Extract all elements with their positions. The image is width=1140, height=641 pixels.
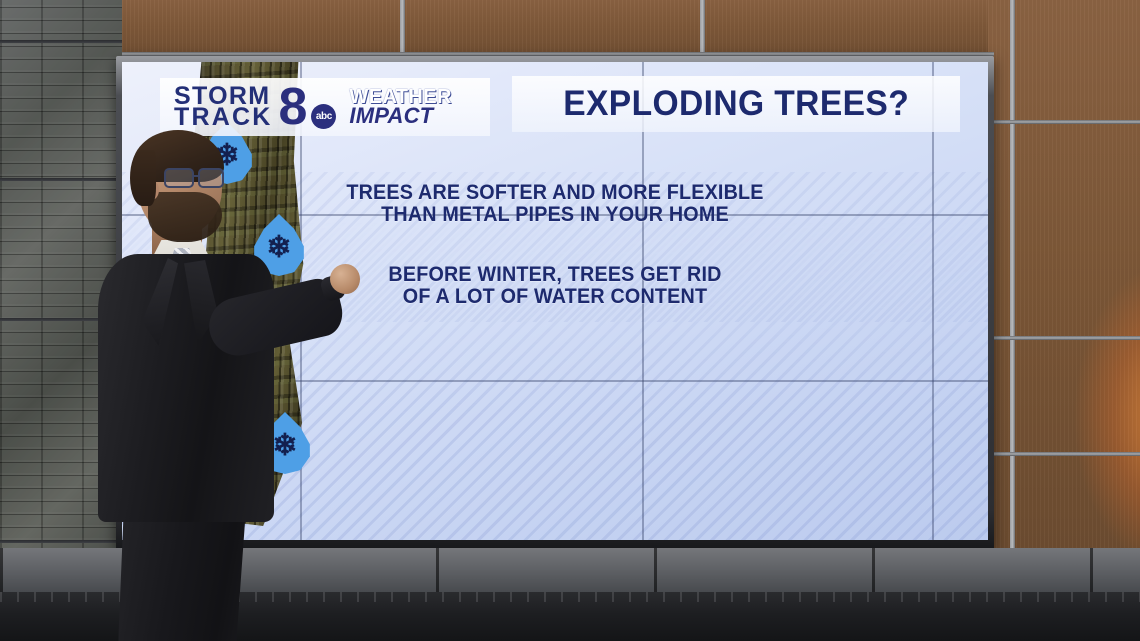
stone-wall-seam xyxy=(0,40,122,43)
meteorologist-presenter xyxy=(92,136,372,641)
channel-number: 8 xyxy=(279,87,308,129)
weather-impact-wordmark: WEATHER IMPACT xyxy=(349,88,451,127)
presenter-hair xyxy=(130,150,156,206)
presenter-legs xyxy=(116,508,246,641)
headline-banner: EXPLODING TREES? xyxy=(512,76,960,132)
storm-track-wordmark: STORM TRACK xyxy=(174,86,273,129)
wood-panel-seam xyxy=(988,120,1140,124)
station-logo: STORM TRACK 8 abc WEATHER IMPACT xyxy=(160,78,490,136)
presenter-pointing-hand xyxy=(330,264,360,294)
broadcast-screenshot: ❄ ❄ ❄ STORM TRACK 8 abc WEATHER IMPACT E… xyxy=(0,0,1140,641)
logo-line-track: TRACK xyxy=(174,107,273,129)
wood-panel-seam xyxy=(988,452,1140,456)
wood-panel-seam xyxy=(1010,0,1015,578)
brand-line-impact: IMPACT xyxy=(349,106,451,126)
abc-network-logo-icon: abc xyxy=(311,104,336,129)
headline-text: EXPLODING TREES? xyxy=(563,84,909,124)
presenter-beard xyxy=(148,192,222,242)
wood-panel-seam xyxy=(988,336,1140,340)
glasses-lens xyxy=(198,168,224,188)
glasses-lens xyxy=(164,168,194,188)
presenter-glasses-icon xyxy=(164,168,230,190)
